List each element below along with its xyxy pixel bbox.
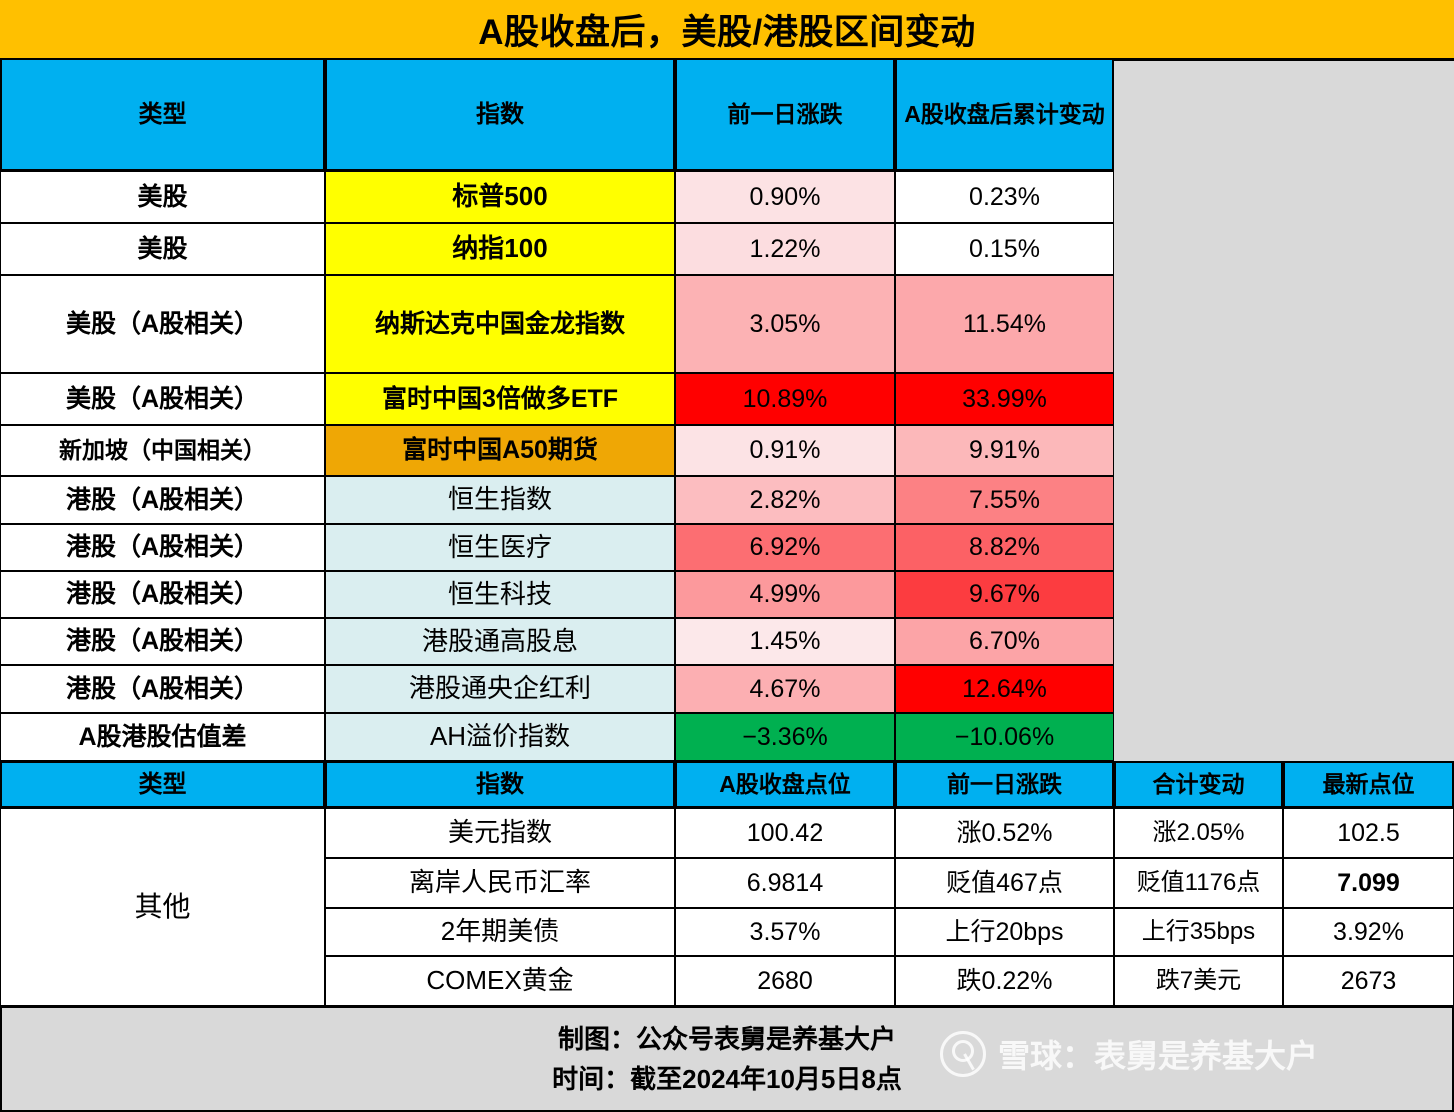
table1-index-cell: 富时中国3倍做多ETF xyxy=(325,373,675,425)
table1-header-prev-day: 前一日涨跌 xyxy=(675,58,895,171)
table2-total-cell: 涨2.05% xyxy=(1114,808,1283,858)
chart-title-bar: A股收盘后，美股/港股区间变动 xyxy=(0,0,1454,58)
table2-index-cell: COMEX黄金 xyxy=(325,956,675,1006)
table1-prev-day-cell: 6.92% xyxy=(675,524,895,571)
empty-gray-panel xyxy=(1114,58,1454,761)
table2-header-type: 类型 xyxy=(0,761,325,808)
table1-prev-day-cell: 0.91% xyxy=(675,425,895,476)
table2-close-cell: 100.42 xyxy=(675,808,895,858)
table1-cumulative-cell: 0.23% xyxy=(895,171,1114,223)
table1-cumulative-cell: 6.70% xyxy=(895,618,1114,665)
table2-latest-cell: 2673 xyxy=(1283,956,1454,1006)
table2-header-close: A股收盘点位 xyxy=(675,761,895,808)
table1-prev-day-cell: 10.89% xyxy=(675,373,895,425)
table2-latest-cell: 7.099 xyxy=(1283,858,1454,908)
table2-close-cell: 2680 xyxy=(675,956,895,1006)
table1-prev-day-cell: 0.90% xyxy=(675,171,895,223)
table1-index-cell: 纳斯达克中国金龙指数 xyxy=(325,275,675,373)
table2-index-cell: 离岸人民币汇率 xyxy=(325,858,675,908)
footer-note: 制图：公众号表舅是养基大户 时间：截至2024年10月5日8点 xyxy=(0,1006,1454,1112)
table1-header-cumulative: A股收盘后累计变动 xyxy=(895,58,1114,171)
table1-type-cell: 港股（A股相关） xyxy=(0,571,325,618)
table1-cumulative-cell: 9.91% xyxy=(895,425,1114,476)
table1-index-cell: 恒生医疗 xyxy=(325,524,675,571)
table1-header-type: 类型 xyxy=(0,58,325,171)
table1-header-index: 指数 xyxy=(325,58,675,171)
table1-index-cell: 富时中国A50期货 xyxy=(325,425,675,476)
table2-close-cell: 3.57% xyxy=(675,908,895,956)
table1-type-cell: A股港股估值差 xyxy=(0,713,325,761)
table1-index-cell: 港股通高股息 xyxy=(325,618,675,665)
table1-type-cell: 美股 xyxy=(0,223,325,275)
table2-prev-day-cell: 涨0.52% xyxy=(895,808,1114,858)
table2-total-cell: 贬值1176点 xyxy=(1114,858,1283,908)
table2-total-cell: 跌7美元 xyxy=(1114,956,1283,1006)
table2-header-latest: 最新点位 xyxy=(1283,761,1454,808)
table1-index-cell: 纳指100 xyxy=(325,223,675,275)
table2-header-prev-day: 前一日涨跌 xyxy=(895,761,1114,808)
table1-type-cell: 美股（A股相关） xyxy=(0,373,325,425)
page-title: A股收盘后，美股/港股区间变动 xyxy=(478,4,976,55)
table1-cumulative-cell: 0.15% xyxy=(895,223,1114,275)
table2-prev-day-cell: 跌0.22% xyxy=(895,956,1114,1006)
table2-index-cell: 2年期美债 xyxy=(325,908,675,956)
table1-cumulative-cell: 8.82% xyxy=(895,524,1114,571)
table1-prev-day-cell: −3.36% xyxy=(675,713,895,761)
table1-index-cell: 恒生科技 xyxy=(325,571,675,618)
infographic-root: A股收盘后，美股/港股区间变动 类型指数前一日涨跌A股收盘后累计变动美股标普50… xyxy=(0,0,1454,1112)
table2-index-cell: 美元指数 xyxy=(325,808,675,858)
table1-cumulative-cell: 11.54% xyxy=(895,275,1114,373)
table1-type-cell: 美股（A股相关） xyxy=(0,275,325,373)
table1-index-cell: 恒生指数 xyxy=(325,476,675,524)
table2-prev-day-cell: 贬值467点 xyxy=(895,858,1114,908)
table1-index-cell: 港股通央企红利 xyxy=(325,665,675,713)
table1-type-cell: 港股（A股相关） xyxy=(0,665,325,713)
table2-latest-cell: 3.92% xyxy=(1283,908,1454,956)
table1-type-cell: 港股（A股相关） xyxy=(0,524,325,571)
table1-prev-day-cell: 2.82% xyxy=(675,476,895,524)
table2-group-label: 其他 xyxy=(0,808,325,1006)
table1-prev-day-cell: 3.05% xyxy=(675,275,895,373)
table1-index-cell: 标普500 xyxy=(325,171,675,223)
table1-cumulative-cell: 33.99% xyxy=(895,373,1114,425)
table1-cumulative-cell: 12.64% xyxy=(895,665,1114,713)
table1-index-cell: AH溢价指数 xyxy=(325,713,675,761)
table2-header-index: 指数 xyxy=(325,761,675,808)
table2-prev-day-cell: 上行20bps xyxy=(895,908,1114,956)
footer-credit: 制图：公众号表舅是养基大户 xyxy=(558,1019,896,1059)
table2-total-cell: 上行35bps xyxy=(1114,908,1283,956)
table1-cumulative-cell: 7.55% xyxy=(895,476,1114,524)
table1-cumulative-cell: 9.67% xyxy=(895,571,1114,618)
table1-prev-day-cell: 1.22% xyxy=(675,223,895,275)
table1-prev-day-cell: 1.45% xyxy=(675,618,895,665)
table1-type-cell: 新加坡（中国相关） xyxy=(0,425,325,476)
table1-type-cell: 港股（A股相关） xyxy=(0,618,325,665)
table1-type-cell: 港股（A股相关） xyxy=(0,476,325,524)
table1-prev-day-cell: 4.67% xyxy=(675,665,895,713)
footer-timestamp: 时间：截至2024年10月5日8点 xyxy=(552,1059,902,1099)
table2-header-total: 合计变动 xyxy=(1114,761,1283,808)
table1-type-cell: 美股 xyxy=(0,171,325,223)
table2-close-cell: 6.9814 xyxy=(675,858,895,908)
table2-latest-cell: 102.5 xyxy=(1283,808,1454,858)
table1-prev-day-cell: 4.99% xyxy=(675,571,895,618)
table1-cumulative-cell: −10.06% xyxy=(895,713,1114,761)
